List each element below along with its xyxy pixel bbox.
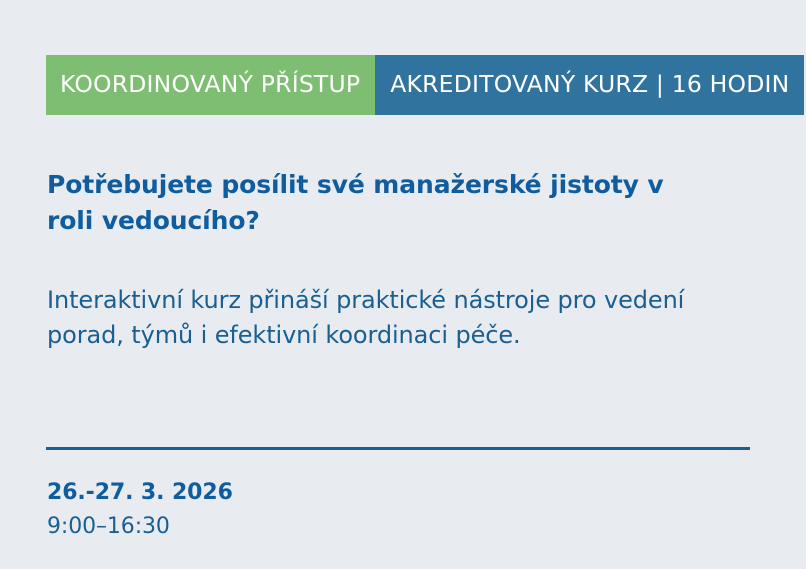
schedule-block: 26.-27. 3. 2026 9:00–16:30 xyxy=(47,478,447,541)
badge-koordinovany-pristup: KOORDINOVANÝ PŘÍSTUP xyxy=(46,55,375,115)
badge-akreditovany-kurz: AKREDITOVANÝ KURZ | 16 HODIN xyxy=(375,55,804,115)
course-promo-card: KOORDINOVANÝ PŘÍSTUP AKREDITOVANÝ KURZ |… xyxy=(0,0,806,569)
course-date: 26.-27. 3. 2026 xyxy=(47,478,447,508)
banner-row: KOORDINOVANÝ PŘÍSTUP AKREDITOVANÝ KURZ |… xyxy=(46,55,804,115)
section-divider xyxy=(46,447,750,450)
page-title: Potřebujete posílit své manažerské jisto… xyxy=(47,167,687,238)
course-time: 9:00–16:30 xyxy=(47,512,447,542)
course-description: Interaktivní kurz přináší praktické nást… xyxy=(47,283,727,353)
